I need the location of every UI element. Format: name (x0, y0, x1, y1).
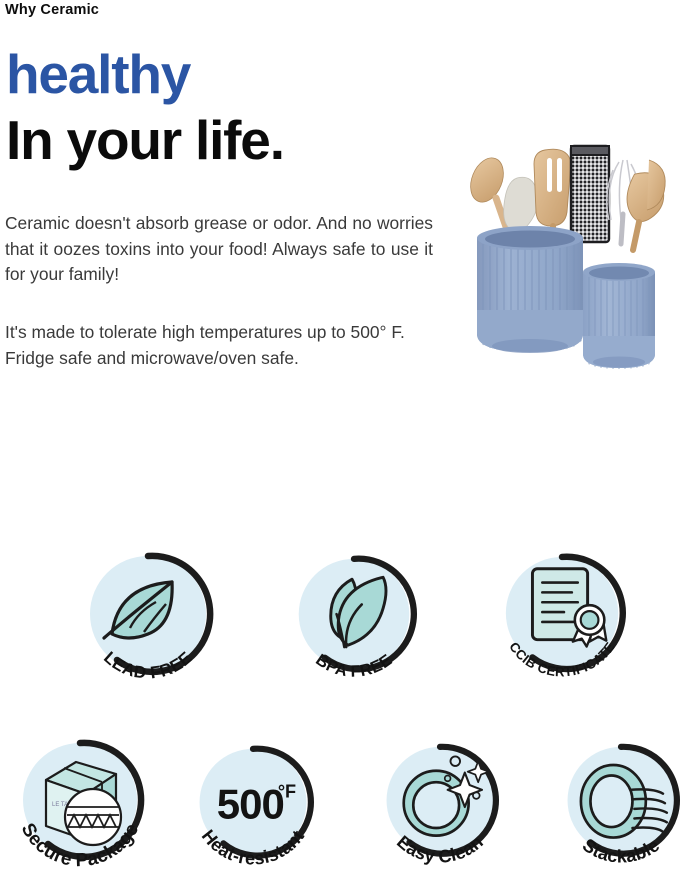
whisk-handle (621, 214, 623, 244)
badge-ccib-certificate: CCIB CERTIFICATE (497, 548, 627, 688)
badge-easy-clean: Easy Clean (377, 737, 503, 877)
utensil-grater (571, 146, 609, 242)
body-paragraph-1: Ceramic doesn't absorb grease or odor. A… (5, 211, 433, 288)
body-paragraph-2: It's made to tolerate high temperatures … (5, 320, 433, 371)
temperature-value: 500 (217, 781, 284, 828)
headline-accent: healthy (6, 47, 190, 102)
badge-heat-resistant: 500 °F Heat-resistant (190, 739, 316, 879)
ceramic-jar-small (583, 263, 655, 372)
badge-stackable: Stackable (558, 737, 684, 877)
section-kicker: Why Ceramic (5, 2, 99, 18)
badge-bpa-free: BPA FREE (290, 548, 418, 688)
temperature-unit: °F (278, 782, 296, 802)
badge-secure-package: LE TAUC Secure Package (14, 736, 146, 878)
feature-badge-grid: LEAD FREE BPA FREE (0, 540, 685, 879)
headline-main: In your life. (6, 113, 284, 168)
badge-lead-free: LEAD FREE (82, 548, 214, 688)
product-photo (443, 140, 685, 390)
ceramic-jar-large (477, 226, 583, 353)
